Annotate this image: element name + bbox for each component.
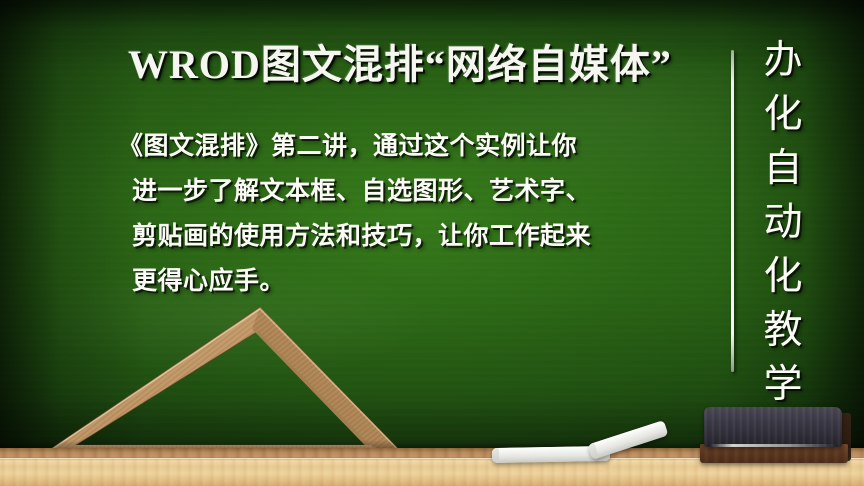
body-line-4: 更得心应手。 [118, 259, 678, 304]
slide-body-text: 《图文混排》第二讲，通过这个实例让你 进一步了解文本框、自选图形、艺术字、 剪贴… [118, 124, 678, 304]
vertical-char-4: 动 [748, 196, 818, 250]
vertical-char-3: 自 [748, 142, 818, 196]
vertical-char-5: 化 [748, 250, 818, 304]
body-line-1: 《图文混排》第二讲，通过这个实例让你 [118, 124, 678, 169]
body-line-2: 进一步了解文本框、自选图形、艺术字、 [118, 169, 678, 214]
vertical-char-7: 学 [748, 358, 818, 412]
vertical-divider-line [731, 50, 734, 372]
vertical-char-2: 化 [748, 88, 818, 142]
blackboard-eraser [700, 407, 848, 463]
eraser-chalk-dust-line [710, 444, 836, 447]
vertical-chalk-text: 办 化 自 动 化 教 学 [748, 34, 818, 412]
vertical-char-1: 办 [748, 34, 818, 88]
eraser-felt-pad [704, 407, 842, 447]
blackboard-slide: WROD图文混排“网络自媒体” 《图文混排》第二讲，通过这个实例让你 进一步了解… [0, 0, 864, 486]
slide-title: WROD图文混排“网络自媒体” [96, 40, 704, 90]
vertical-char-6: 教 [748, 304, 818, 358]
body-line-3: 剪贴画的使用方法和技巧，让你工作起来 [118, 214, 678, 259]
